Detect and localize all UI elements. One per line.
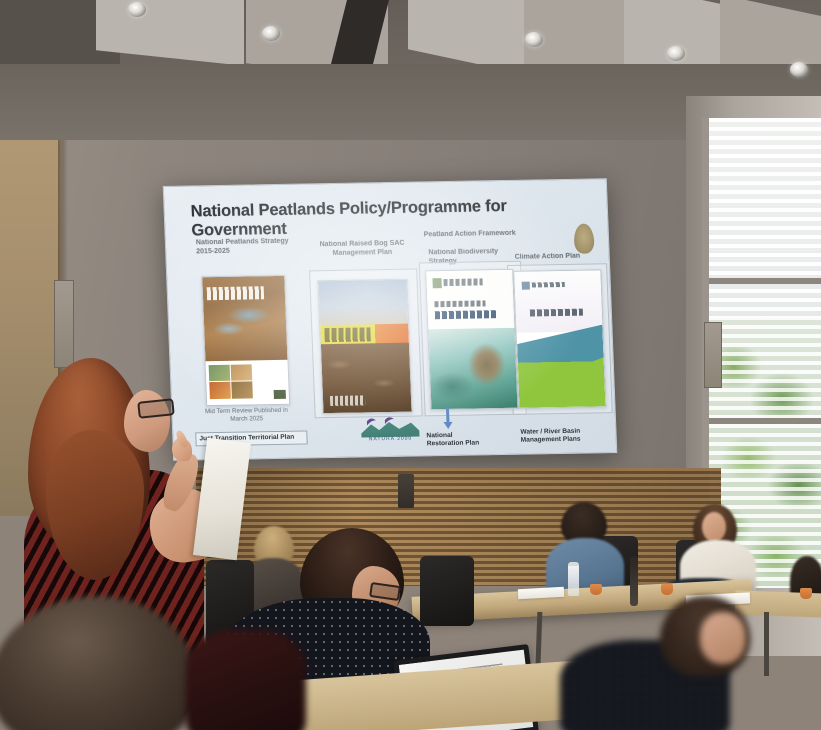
callout-national-restoration-plan: National Restoration Plan [423,429,492,451]
mid-term-review-note: Mid Term Review Published in March 2025 [196,407,297,425]
column-label-3: Peatland Action Framework [424,229,516,240]
wall-speaker [54,280,74,368]
attendee-foreground-left-body [186,630,306,730]
ceiling-downlight [790,62,808,77]
cover-national-peatlands-strategy [201,275,290,406]
projection-screen-surface: National Peatlands Policy/Programme for … [163,178,618,461]
ceiling-downlight [525,32,543,47]
window-mullion [709,278,821,284]
ceiling-downlight [667,46,685,61]
cover-raised-bog-sac-plan [317,279,412,414]
coffee-cup[interactable] [800,588,812,599]
svg-text:NATURA 2000: NATURA 2000 [369,436,413,442]
microphone-stand [630,556,638,606]
coffee-cup[interactable] [661,584,673,595]
conference-room-photo: National Peatlands Policy/Programme for … [0,0,821,730]
wall-speaker [704,322,722,388]
window-mullion [709,418,821,424]
column-label-4: Climate Action Plan [515,251,595,262]
attendee-foreground-right-face [700,612,746,664]
water-bottle[interactable] [568,562,579,596]
cover-climate-action-plan [513,269,606,408]
coffee-cup[interactable] [590,584,602,595]
ceiling-downlight [262,26,280,41]
natura-2000-logo: NATURA 2000 [359,414,422,441]
chair [420,556,474,626]
attendee-white-top-face [702,512,726,542]
table-leg [764,612,769,676]
down-arrow-icon [442,408,451,428]
callout-water-river-basin-plans: Water / River Basin Management Plans [517,425,596,447]
cover-biodiversity-action-plan [425,269,518,410]
column-label-1: National Peatlands Strategy 2015-2025 [196,237,293,258]
wall-mounted-device [398,474,414,508]
projection-screen: National Peatlands Policy/Programme for … [163,178,618,461]
slide-title: National Peatlands Policy/Programme for … [190,196,591,241]
column-label-2: National Raised Bog SAC Management Plan [314,239,411,260]
ceiling-downlight [128,2,146,17]
